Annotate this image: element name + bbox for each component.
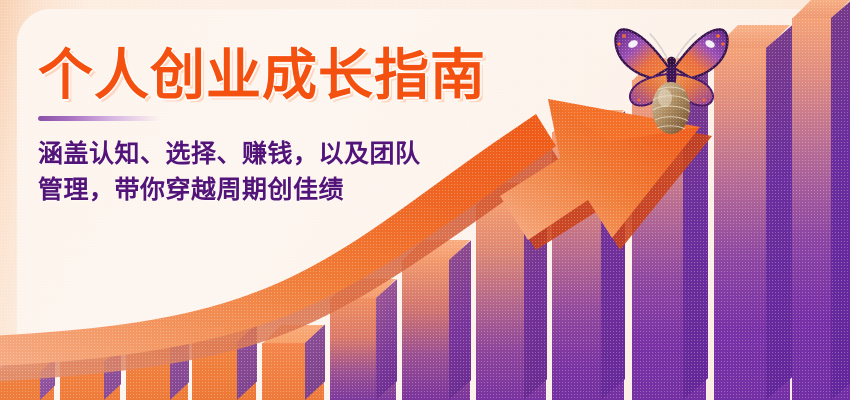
text-block: 个人创业成长指南 涵盖认知、选择、赚钱，以及团队 管理，带你穿越周期创佳绩: [38, 46, 638, 208]
subtitle-line-2: 管理，带你穿越周期创佳绩: [38, 173, 638, 209]
butterfly-head: [667, 57, 676, 66]
title-divider: [38, 116, 160, 121]
page-subtitle: 涵盖认知、选择、赚钱，以及团队 管理，带你穿越周期创佳绩: [38, 137, 638, 208]
page-title: 个人创业成长指南: [38, 46, 638, 104]
subtitle-line-1: 涵盖认知、选择、赚钱，以及团队: [38, 137, 638, 173]
cocoon-icon: [652, 82, 690, 134]
promo-banner: 个人创业成长指南 涵盖认知、选择、赚钱，以及团队 管理，带你穿越周期创佳绩: [0, 0, 850, 400]
